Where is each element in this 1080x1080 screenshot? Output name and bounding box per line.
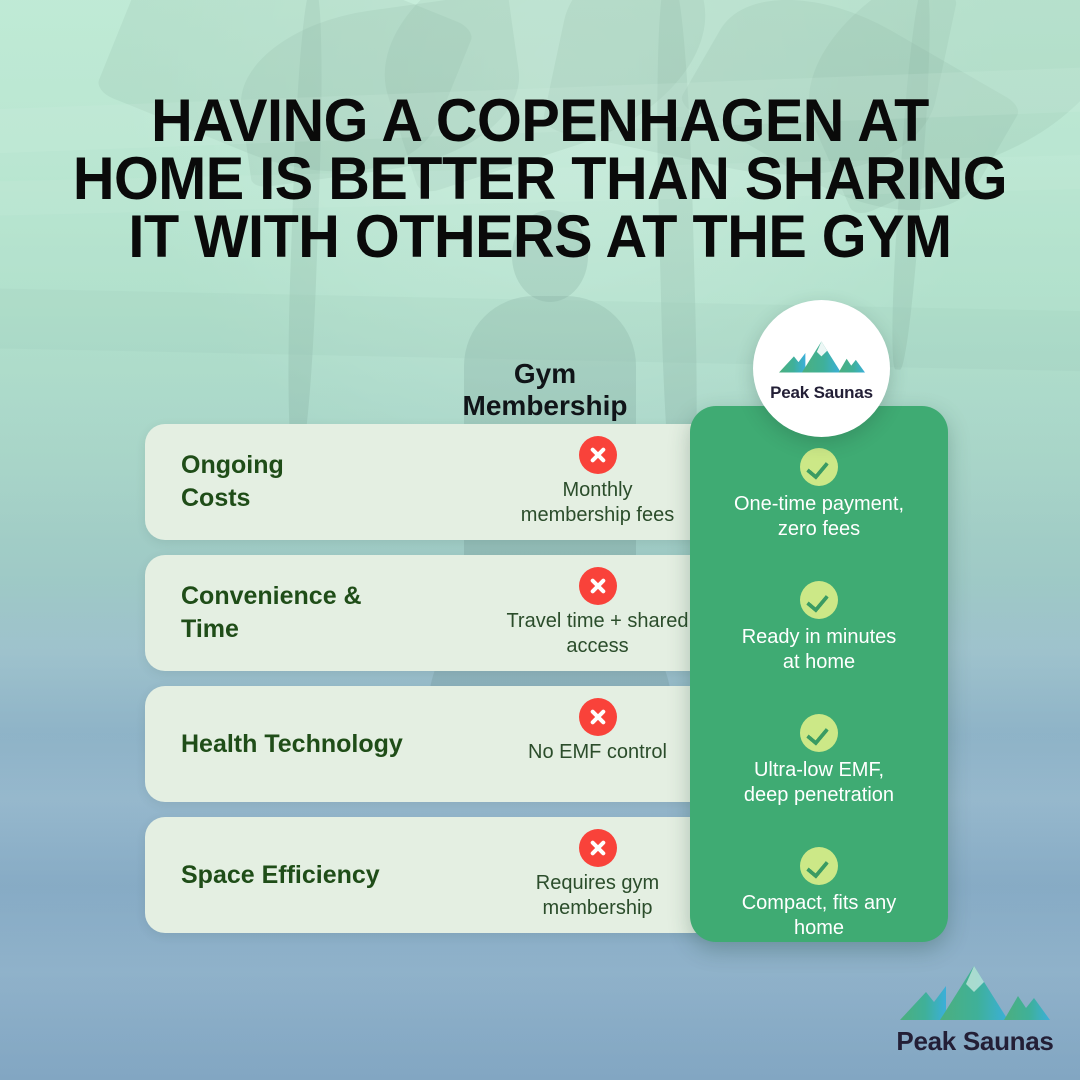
row-label-line-2: Costs [181, 482, 471, 515]
row-label-line-1: Convenience & [181, 580, 471, 613]
peak-cell-text: Compact, fits any home [690, 891, 948, 941]
infographic-canvas: HAVING A COPENHAGEN AT HOME IS BETTER TH… [0, 0, 1080, 1080]
row-label-line-1: Ongoing [181, 449, 471, 482]
x-circle-icon [579, 829, 617, 867]
peak-cell-text-line-2: deep penetration [744, 784, 894, 806]
x-circle-icon [579, 698, 617, 736]
gym-cell-text: Requires gym membership [475, 871, 720, 921]
headline-line-2: HOME IS BETTER THAN SHARING [22, 150, 1059, 208]
mountain-icon [900, 962, 1050, 1024]
gym-cell-text-line-1: No EMF control [528, 741, 667, 763]
peak-cell-text-line-2: at home [783, 651, 855, 673]
peak-cell-text-line-1: Ready in minutes [742, 626, 897, 648]
gym-cell-text: Monthly membership fees [475, 478, 720, 528]
check-circle-icon [800, 714, 838, 752]
row-label: Convenience & Time [181, 555, 471, 671]
brand-wordmark: Peak Saunas [896, 1026, 1053, 1057]
gym-cell: No EMF control [475, 698, 720, 765]
x-circle-icon [579, 567, 617, 605]
table-row: Convenience & Time Travel time + shared … [145, 555, 725, 671]
check-circle-icon [800, 581, 838, 619]
peak-cell-text-line-1: Ultra-low EMF, [754, 759, 884, 781]
brand-wordmark: Peak Saunas [770, 383, 873, 403]
gym-cell-text-line-1: Travel time + shared [506, 610, 688, 632]
peak-cell-text-line-1: One-time payment, [734, 493, 904, 515]
check-circle-icon [800, 847, 838, 885]
row-label: Health Technology [181, 686, 471, 802]
peak-cell: Ready in minutes at home [690, 581, 948, 675]
column-header-gym: Gym Membership [400, 358, 690, 422]
gym-cell: Requires gym membership [475, 829, 720, 921]
gym-cell-text: No EMF control [475, 740, 720, 765]
gym-cell-text-line-2: access [566, 635, 628, 657]
table-row: Space Efficiency Requires gym membership [145, 817, 725, 933]
gym-cell: Monthly membership fees [475, 436, 720, 528]
peak-cell-text-line-2: zero fees [778, 518, 860, 540]
gym-cell-text: Travel time + shared access [475, 609, 720, 659]
brand-badge: Peak Saunas [753, 300, 890, 437]
row-label: Ongoing Costs [181, 424, 471, 540]
peak-saunas-panel: One-time payment, zero fees Ready in min… [690, 406, 948, 942]
column-header-gym-line-1: Gym [400, 358, 690, 390]
row-label-line-2: Time [181, 613, 471, 646]
table-row: Health Technology No EMF control [145, 686, 725, 802]
row-label-line-1: Space Efficiency [181, 859, 471, 892]
gym-cell-text-line-1: Requires gym [536, 872, 659, 894]
peak-cell-text: One-time payment, zero fees [690, 492, 948, 542]
gym-cell-text-line-2: membership fees [521, 504, 674, 526]
gym-cell: Travel time + shared access [475, 567, 720, 659]
headline-line-1: HAVING A COPENHAGEN AT [22, 92, 1059, 150]
mountain-icon [779, 334, 865, 380]
footer-logo: Peak Saunas [885, 962, 1065, 1067]
comparison-rows: Ongoing Costs Monthly membership fees Co… [145, 424, 725, 948]
gym-cell-text-line-2: membership [542, 897, 652, 919]
peak-cell-text: Ready in minutes at home [690, 625, 948, 675]
row-label-line-1: Health Technology [181, 728, 471, 761]
headline-line-3: IT WITH OTHERS AT THE GYM [22, 208, 1059, 266]
peak-cell-text-line-2: home [794, 917, 844, 939]
peak-cell: Compact, fits any home [690, 847, 948, 941]
peak-cell-text: Ultra-low EMF, deep penetration [690, 758, 948, 808]
peak-cell: One-time payment, zero fees [690, 448, 948, 542]
check-circle-icon [800, 448, 838, 486]
page-title: HAVING A COPENHAGEN AT HOME IS BETTER TH… [22, 92, 1059, 266]
gym-cell-text-line-1: Monthly [562, 479, 632, 501]
peak-cell-text-line-1: Compact, fits any [742, 892, 897, 914]
peak-cell: Ultra-low EMF, deep penetration [690, 714, 948, 808]
x-circle-icon [579, 436, 617, 474]
column-header-gym-line-2: Membership [400, 390, 690, 422]
row-label: Space Efficiency [181, 817, 471, 933]
table-row: Ongoing Costs Monthly membership fees [145, 424, 725, 540]
